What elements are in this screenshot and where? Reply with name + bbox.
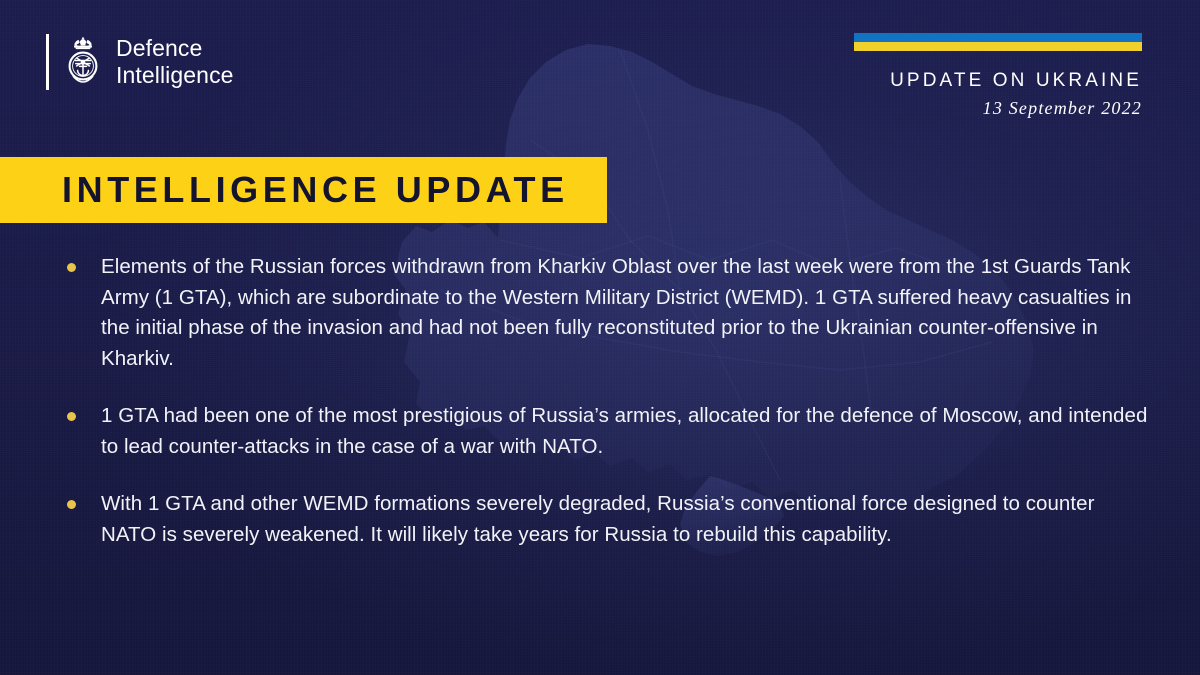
intelligence-update-banner: INTELLIGENCE UPDATE [0, 157, 607, 223]
flag-yellow-band [854, 42, 1142, 51]
bullet-list: Elements of the Russian forces withdrawn… [60, 252, 1150, 550]
mod-defence-intelligence-crest-icon [63, 35, 103, 89]
banner-title: INTELLIGENCE UPDATE [62, 169, 569, 211]
organisation-name: Defence Intelligence [116, 35, 234, 89]
list-item: Elements of the Russian forces withdrawn… [60, 252, 1150, 374]
bullet-dot-icon [67, 263, 76, 272]
list-item: 1 GTA had been one of the most prestigio… [60, 401, 1150, 462]
ukraine-flag-icon [854, 33, 1142, 51]
bullet-text: Elements of the Russian forces withdrawn… [101, 252, 1150, 374]
flag-blue-band [854, 33, 1142, 42]
brand-divider [46, 34, 49, 90]
intelligence-update-poster: Defence Intelligence UPDATE ON UKRAINE 1… [0, 0, 1200, 675]
update-date: 13 September 2022 [854, 98, 1142, 119]
update-label: UPDATE ON UKRAINE [854, 70, 1142, 92]
brand-lockup: Defence Intelligence [46, 34, 234, 90]
bullet-text: With 1 GTA and other WEMD formations sev… [101, 489, 1150, 550]
bullet-dot-icon [67, 412, 76, 421]
bullet-text: 1 GTA had been one of the most prestigio… [101, 401, 1150, 462]
bullet-dot-icon [67, 500, 76, 509]
list-item: With 1 GTA and other WEMD formations sev… [60, 489, 1150, 550]
update-header: UPDATE ON UKRAINE 13 September 2022 [854, 33, 1142, 119]
